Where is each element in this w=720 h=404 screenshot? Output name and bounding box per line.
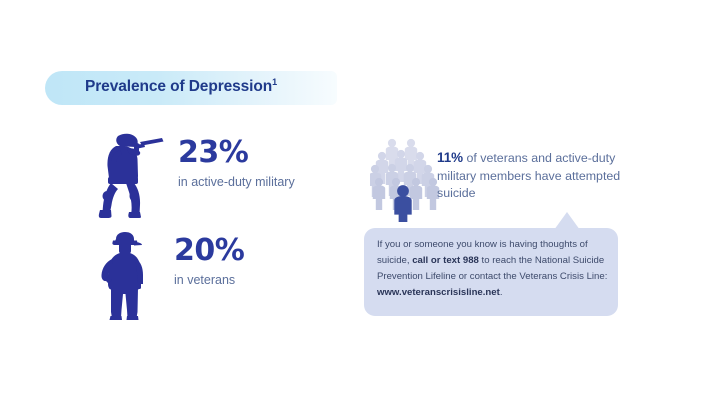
stat-value: 20% <box>174 236 244 266</box>
soldier-aiming-rifle-icon <box>96 126 168 218</box>
page-title-text: Prevalence of Depression <box>85 78 272 95</box>
stat-label: in veterans <box>174 273 244 287</box>
suicide-percent: 11% <box>437 150 463 165</box>
suicide-statistic-text: 11% of veterans and active-duty military… <box>437 148 623 203</box>
stat-value: 23% <box>178 138 295 168</box>
suicide-body-text: of veterans and active-duty military mem… <box>437 151 620 200</box>
callout-line-end: . <box>500 287 503 298</box>
stat-label: in active-duty military <box>178 175 295 189</box>
stat-row: 23% in active-duty military <box>96 126 295 218</box>
infographic-canvas: Prevalence of Depression1 <box>0 0 720 404</box>
page-title: Prevalence of Depression1 <box>85 78 277 96</box>
stat-text-block: 23% in active-duty military <box>178 126 295 189</box>
crowd-of-people-icon <box>370 136 442 222</box>
callout-phone: call or text 988 <box>412 255 479 266</box>
stat-row: 20% in veterans <box>96 228 244 320</box>
crisis-line-text: If you or someone you know is having tho… <box>377 237 609 301</box>
footnote-marker: 1 <box>272 77 277 87</box>
veteran-officer-standing-icon <box>96 228 158 320</box>
veterans-crisis-line-url[interactable]: www.veteranscrisisline.net <box>377 287 500 298</box>
stat-text-block: 20% in veterans <box>174 228 244 287</box>
